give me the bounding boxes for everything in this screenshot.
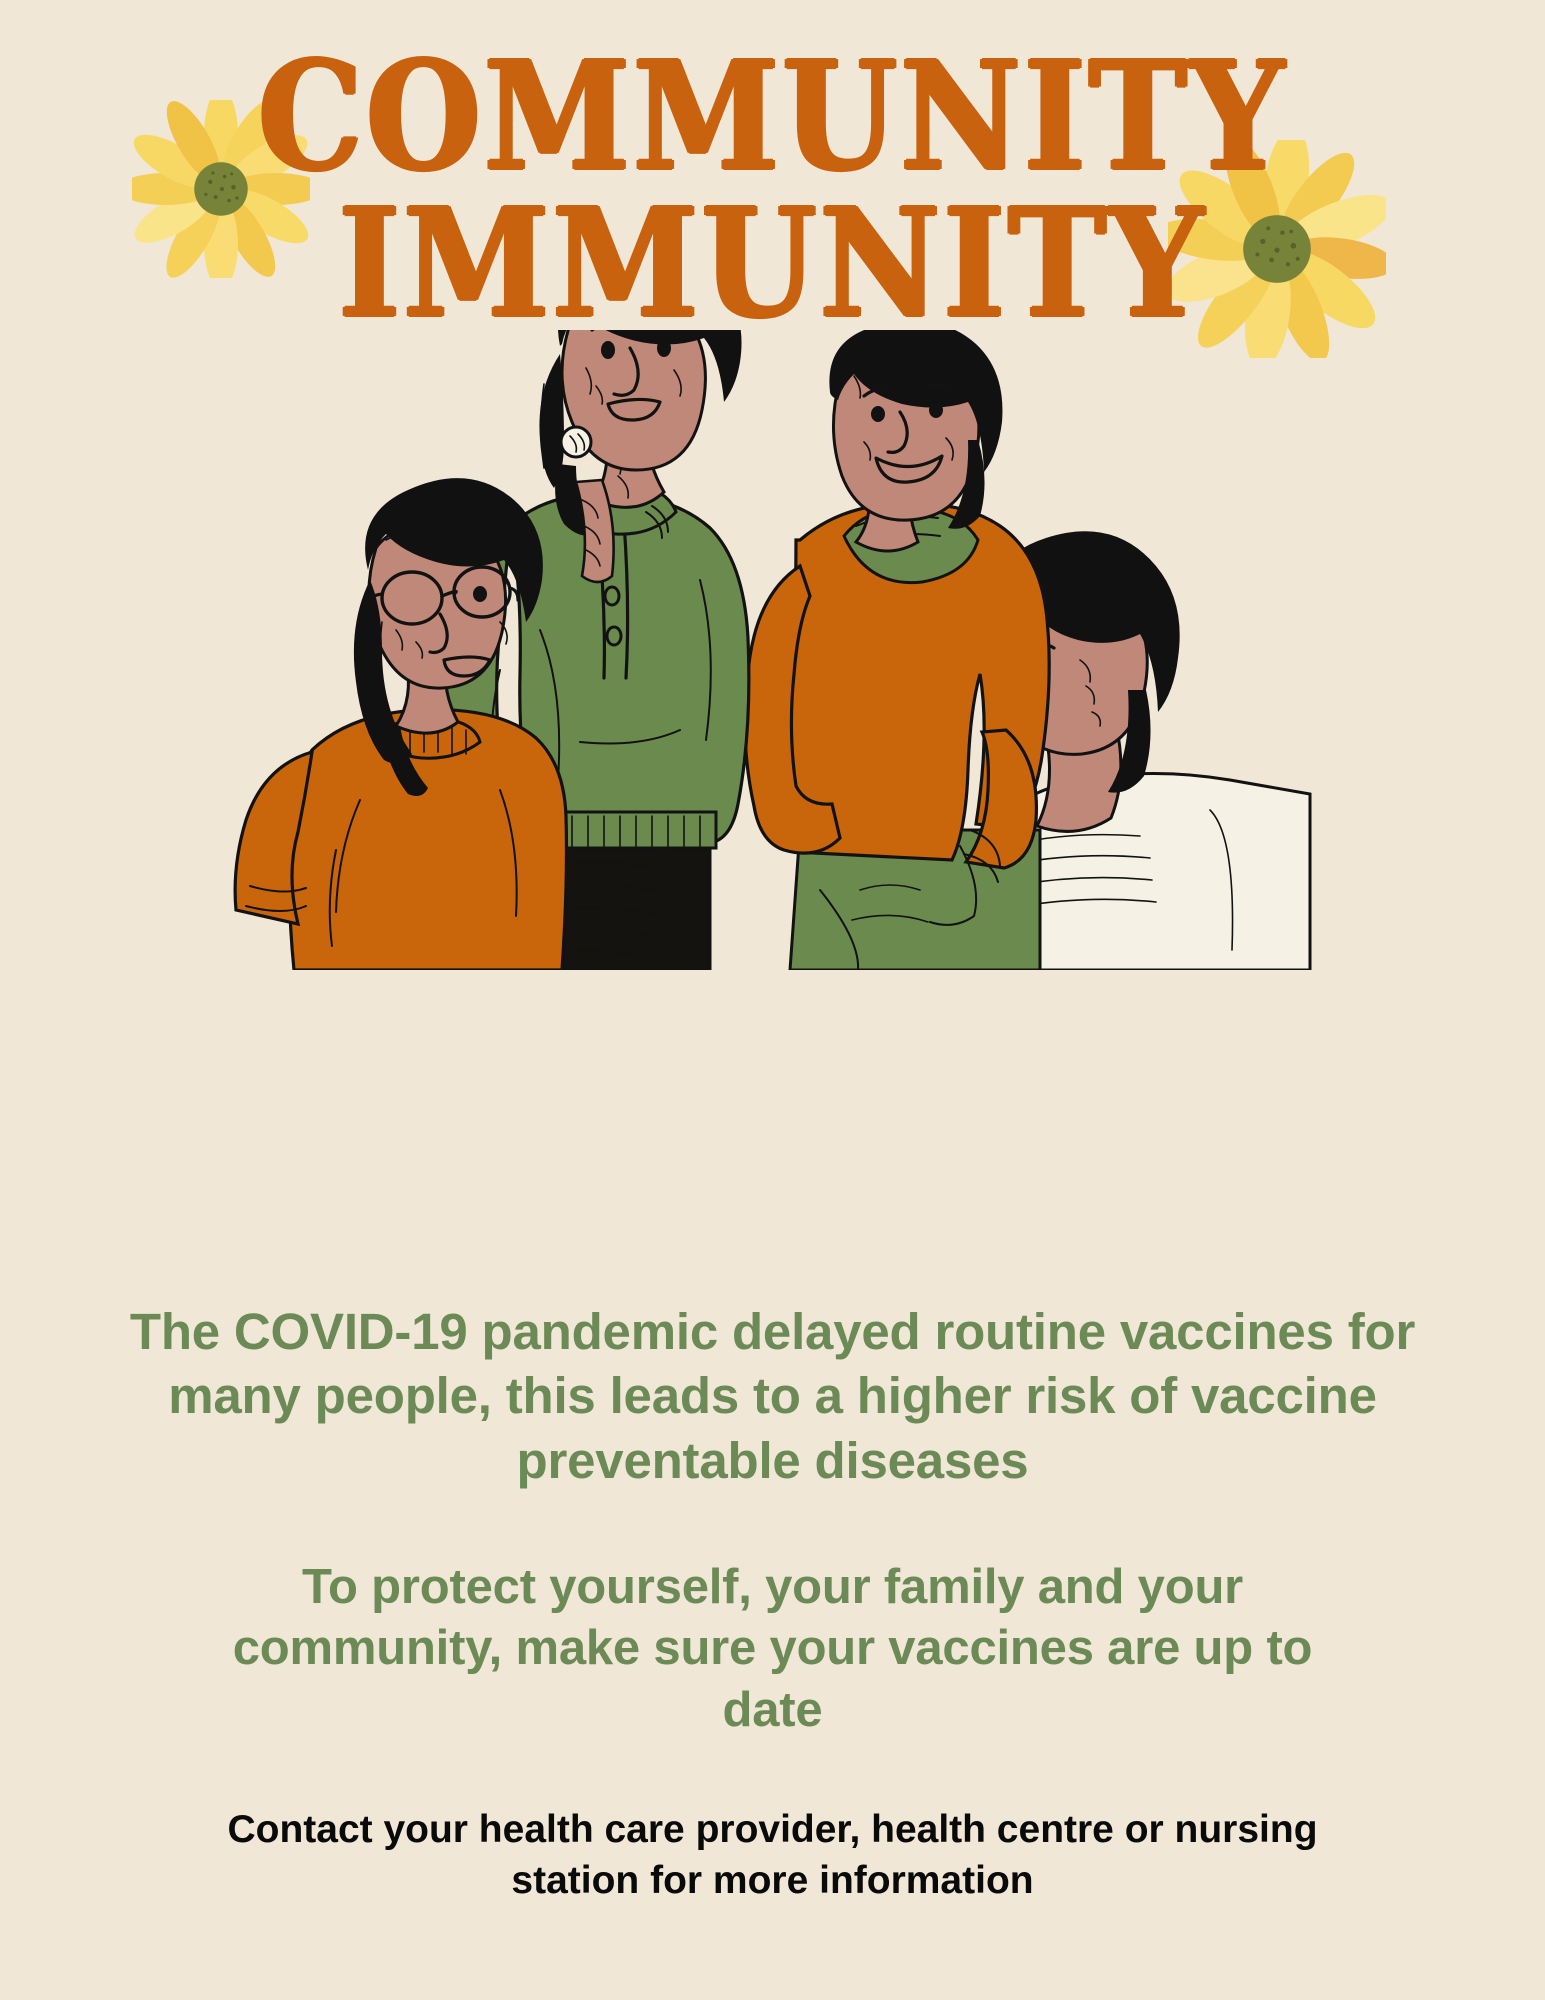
four-community-members-illustration: .ln { fill:none; stroke:#121212; stroke-… — [200, 330, 1350, 970]
figure-child-with-glasses — [235, 478, 566, 970]
paragraph-pandemic-delay: The COVID-19 pandemic delayed routine va… — [0, 1300, 1545, 1493]
paragraph-protect-yourself: To protect yourself, your family and you… — [0, 1557, 1545, 1742]
paragraph-contact-provider: Contact your health care provider, healt… — [0, 1804, 1545, 1907]
body-copy: The COVID-19 pandemic delayed routine va… — [0, 1300, 1545, 1907]
page-title: COMMUNITY IMMUNITY — [0, 48, 1545, 318]
title-line-community: COMMUNITY — [0, 48, 1545, 188]
title-line-immunity: IMMUNITY — [0, 195, 1545, 335]
poster-canvas: COMMUNITY IMMUNITY — [0, 0, 1545, 2000]
figure-elder-orange-sweater — [745, 330, 1049, 970]
